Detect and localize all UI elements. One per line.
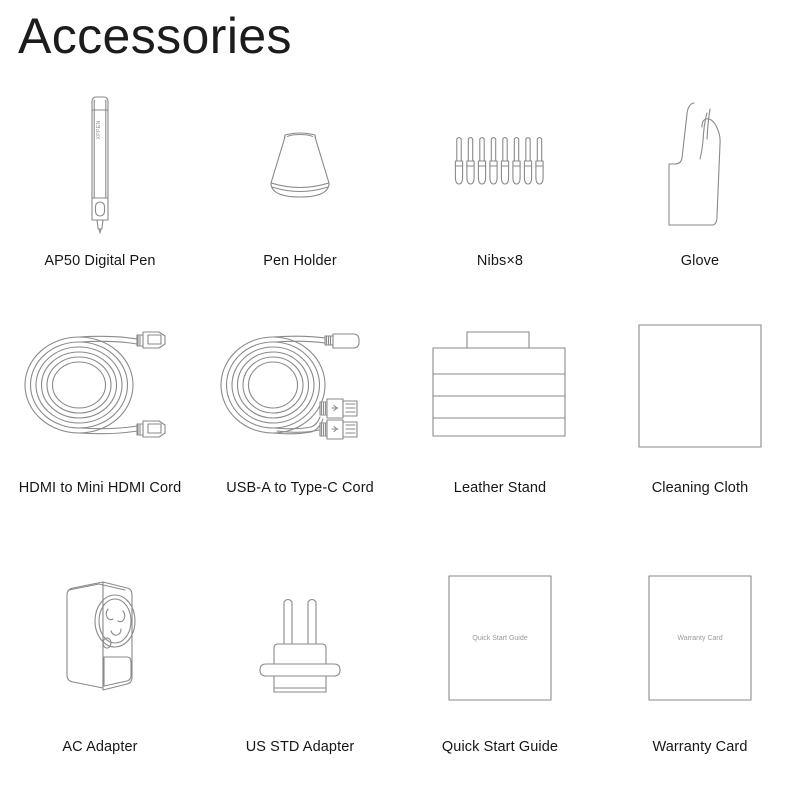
accessory-item-us-std-adapter[interactable]: US STD Adapter (200, 536, 400, 781)
accessory-label: Nibs×8 (477, 253, 523, 269)
accessory-item-cleaning-cloth[interactable]: Cleaning Cloth (600, 291, 800, 536)
accessory-item-quick-start-guide[interactable]: Quick Start Guide Quick Start Guide (400, 536, 600, 781)
accessory-label: AP50 Digital Pen (44, 253, 155, 269)
nibs-art (400, 76, 600, 253)
leather-stand-icon (425, 328, 575, 443)
accessory-label: US STD Adapter (246, 739, 355, 755)
accessory-label: Warranty Card (652, 739, 747, 755)
accessory-label: Glove (681, 253, 719, 269)
accessory-item-warranty-card[interactable]: Warranty Card Warranty Card (600, 536, 800, 781)
accessory-label: AC Adapter (62, 739, 137, 755)
accessory-label: USB-A to Type-C Cord (226, 480, 374, 496)
accessory-label: HDMI to Mini HDMI Cord (19, 480, 182, 496)
us-plug-adapter-art (200, 536, 400, 739)
accessory-item-leather-stand[interactable]: Leather Stand (400, 291, 600, 536)
accessory-item-pen-holder[interactable]: Pen Holder (200, 76, 400, 291)
card-icon: Warranty Card (635, 573, 765, 703)
accessory-label: Leather Stand (454, 480, 546, 496)
accessory-item-usb-a-to-type-c-cord[interactable]: USB-A to Type-C Cord (200, 291, 400, 536)
digital-pen-icon: XPPEN (70, 90, 130, 240)
accessory-item-glove[interactable]: Glove (600, 76, 800, 291)
pen-brand-text: XPPEN (96, 120, 102, 139)
accessory-item-hdmi-to-mini-hdmi-cord[interactable]: HDMI to Mini HDMI Cord (0, 291, 200, 536)
card-inner-text: Warranty Card (677, 635, 722, 642)
cleaning-cloth-art (600, 291, 800, 480)
accessory-label: Cleaning Cloth (652, 480, 749, 496)
page-title: Accessories (18, 6, 292, 66)
warranty-card-art: Warranty Card (600, 536, 800, 739)
accessories-grid: XPPEN AP50 Digital Pen (0, 76, 800, 781)
hdmi-cable-art (0, 291, 200, 480)
cleaning-cloth-icon (635, 321, 765, 451)
leather-stand-art (400, 291, 600, 480)
quick-start-guide-art: Quick Start Guide (400, 536, 600, 739)
hdmi-cable-icon (15, 323, 185, 448)
nibs-icon (445, 125, 555, 205)
accessory-label: Pen Holder (263, 253, 337, 269)
digital-pen-art: XPPEN (0, 76, 200, 253)
ac-adapter-art (0, 536, 200, 739)
glove-art (600, 76, 800, 253)
accessories-page: Accessories (0, 0, 800, 800)
booklet-icon: Quick Start Guide (435, 573, 565, 703)
booklet-inner-text: Quick Start Guide (472, 635, 527, 642)
accessory-item-ap50-digital-pen[interactable]: XPPEN AP50 Digital Pen (0, 76, 200, 291)
accessory-item-ac-adapter[interactable]: AC Adapter (0, 536, 200, 781)
accessory-item-nibs[interactable]: Nibs×8 (400, 76, 600, 291)
pen-holder-icon (245, 115, 355, 215)
pen-holder-art (200, 76, 400, 253)
us-plug-adapter-icon (240, 578, 360, 698)
accessory-label: Quick Start Guide (442, 739, 558, 755)
ac-adapter-icon (45, 573, 155, 703)
usb-cable-icon (215, 323, 385, 448)
usb-cable-art (200, 291, 400, 480)
glove-icon (650, 95, 750, 235)
